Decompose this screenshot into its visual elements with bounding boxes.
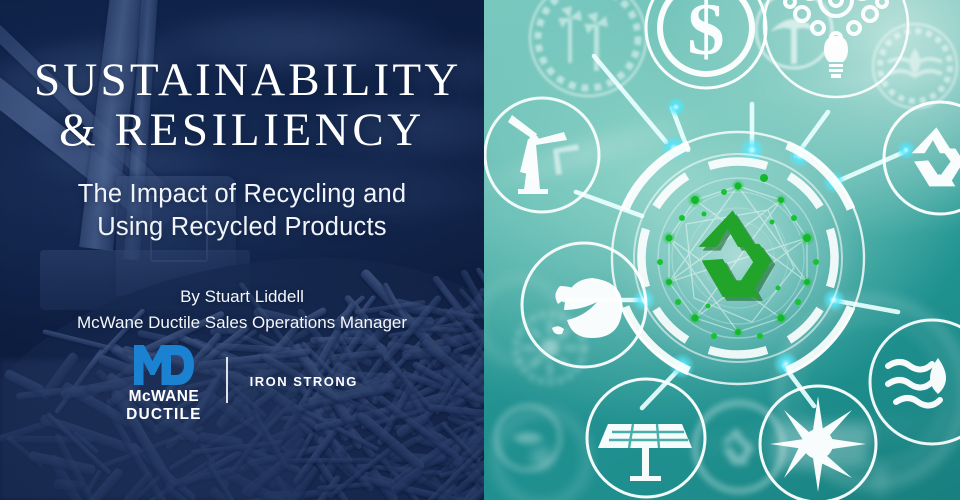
svg-text:$: $	[688, 0, 725, 71]
solar-panel-icon[interactable]	[587, 379, 705, 497]
logo-wordmark-line-2: DUCTILE	[126, 407, 202, 423]
right-graphic-panel: $	[484, 0, 960, 500]
wind-turbine-icon[interactable]	[485, 98, 599, 212]
subtitle-line-2: Using Recycled Products	[97, 213, 386, 241]
dollar-sign-icon[interactable]: $	[646, 0, 766, 88]
presentation-banner: SUSTAINABILITY & RESILIENCY The Impact o…	[0, 0, 960, 500]
title-line-2: & RESILIENCY	[59, 104, 425, 156]
left-photo-panel: SUSTAINABILITY & RESILIENCY The Impact o…	[0, 0, 484, 500]
eco-technology-graphic: $	[484, 0, 960, 500]
subtitle-line-1: The Impact of Recycling and	[78, 180, 407, 208]
page-subtitle: The Impact of Recycling and Using Recycl…	[34, 178, 450, 244]
logo-wordmark: McWANE DUCTILE	[126, 389, 202, 422]
left-panel-content: SUSTAINABILITY & RESILIENCY The Impact o…	[0, 0, 484, 500]
logo-wordmark-line-1: McWANE	[126, 389, 202, 405]
logo-mark-and-wordmark: McWANE DUCTILE	[126, 344, 202, 422]
author-name: By Stuart Liddell	[180, 287, 304, 306]
wind-turbines-icon[interactable]	[530, 0, 646, 96]
author-byline: By Stuart Liddell McWane Ductile Sales O…	[34, 284, 450, 337]
md-monogram-icon	[133, 344, 195, 386]
brand-logo-lockup: McWANE DUCTILE IRON STRONG	[0, 344, 484, 422]
logo-tagline: IRON STRONG	[250, 374, 358, 389]
water-drop-icon[interactable]	[873, 24, 957, 108]
author-title: McWane Ductile Sales Operations Manager	[77, 313, 407, 332]
logo-divider	[226, 357, 228, 403]
title-line-1: SUSTAINABILITY	[34, 54, 461, 106]
page-title: SUSTAINABILITY & RESILIENCY	[34, 56, 450, 156]
